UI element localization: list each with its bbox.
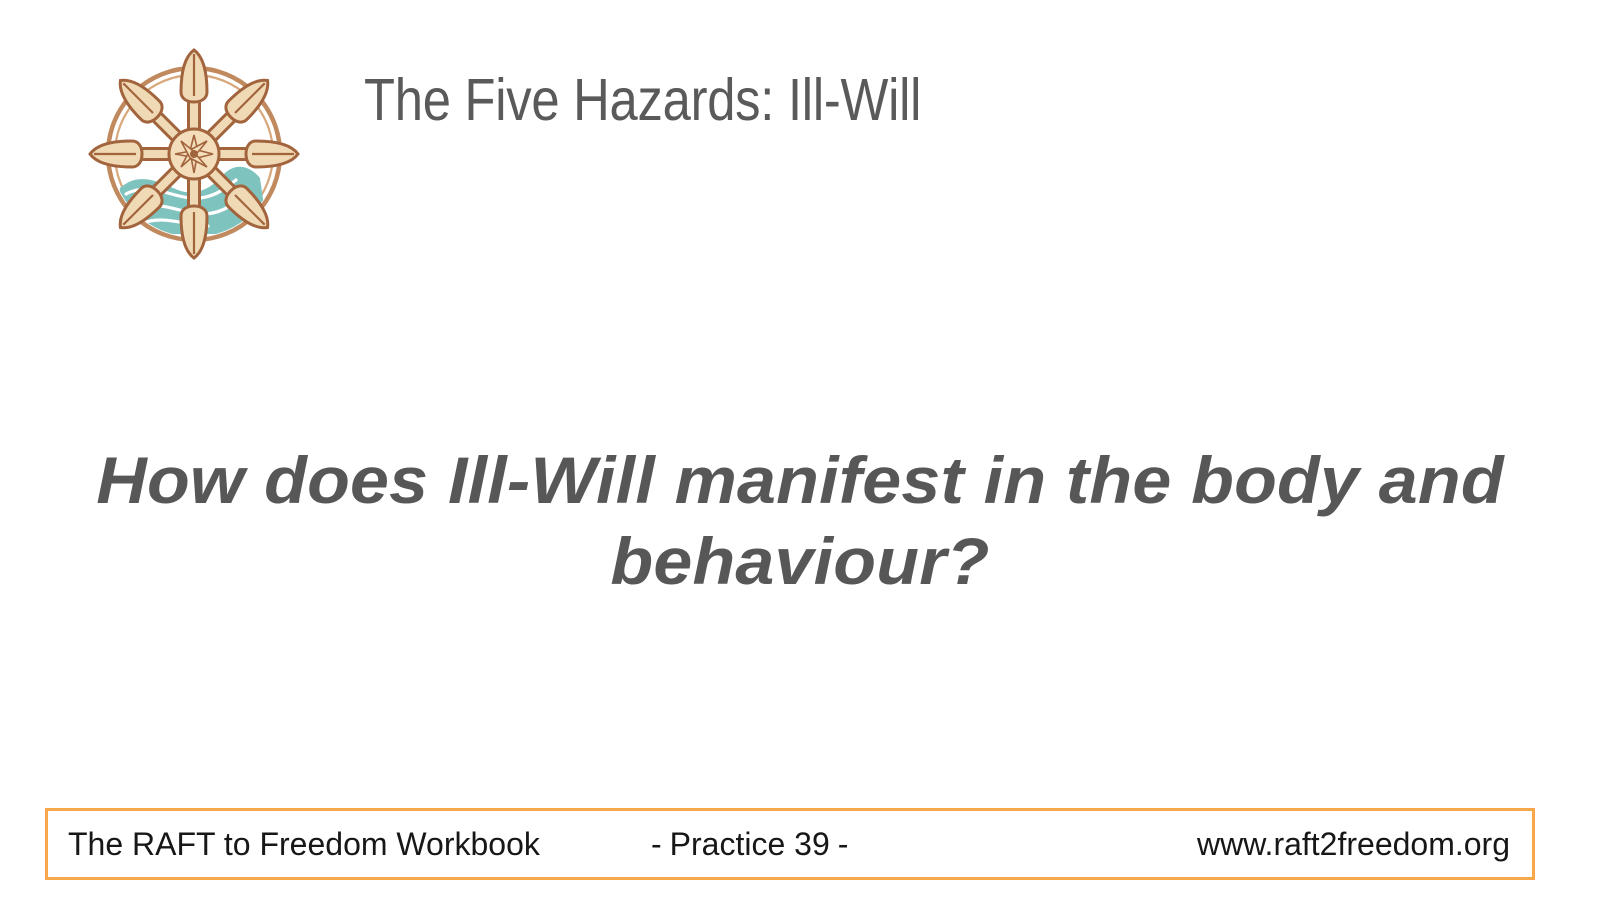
footer-website-link[interactable]: www.raft2freedom.org: [1197, 828, 1510, 860]
slide-footer: The RAFT to Freedom Workbook -Practice 3…: [45, 808, 1535, 880]
question-line-1: How does Ill-Will manifest in the body a…: [47, 440, 1552, 521]
slide: The Five Hazards: Ill-Will How does Ill-…: [0, 0, 1600, 900]
footer-inner: The RAFT to Freedom Workbook -Practice 3…: [48, 811, 1532, 877]
footer-practice-label: Practice 39: [670, 826, 830, 862]
raft-wheel-logo-icon: [78, 38, 310, 270]
page-title: The Five Hazards: Ill-Will: [364, 70, 921, 132]
slide-body: How does Ill-Will manifest in the body a…: [90, 440, 1510, 601]
compass-rose-icon: [169, 129, 219, 179]
footer-dash-right: -: [830, 826, 857, 862]
slide-header: The Five Hazards: Ill-Will: [0, 0, 1600, 300]
footer-workbook-label: The RAFT to Freedom Workbook: [68, 828, 540, 860]
question-line-2: behaviour?: [47, 521, 1552, 602]
footer-dash-left: -: [643, 826, 670, 862]
footer-practice-group: -Practice 39-: [643, 828, 856, 860]
